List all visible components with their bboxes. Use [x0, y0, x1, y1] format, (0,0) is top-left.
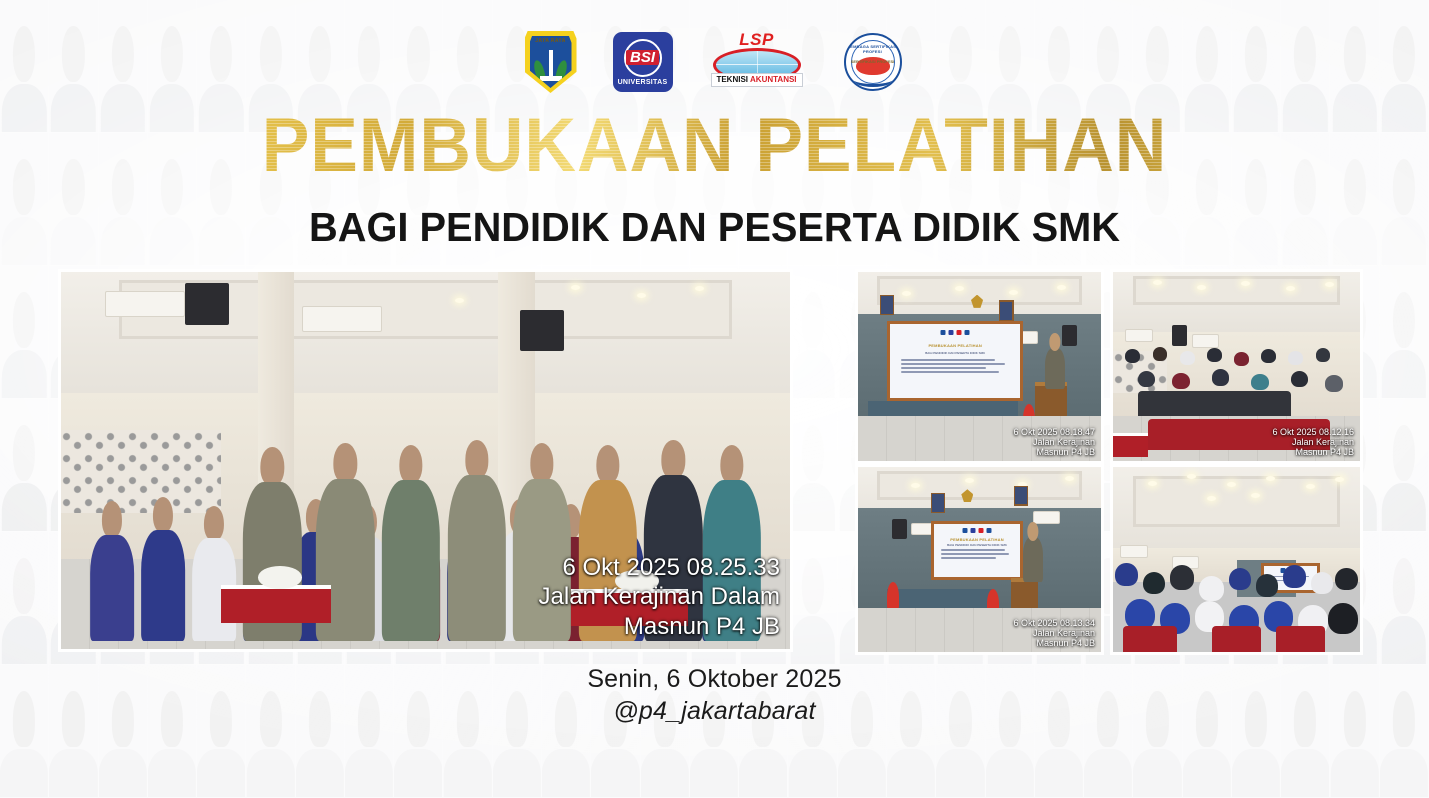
- president-portrait-left: [880, 295, 895, 316]
- flyer-page: JAYA RAYA BSI UNIVERSITAS LSP TEKNISI AK…: [0, 0, 1429, 760]
- audience-seating-photo: 6 Okt 2025 08.12.16 Jalan Kerajinan Masn…: [1110, 269, 1363, 464]
- flower-arrangement-left: [258, 566, 302, 589]
- projector-screen-frame: PEMBUKAAN PELATIHAN BAGI PENDIDIK DAN PE…: [931, 521, 1023, 580]
- stamp-datetime: 6 Okt 2025 08.25.33: [539, 553, 780, 582]
- slide-logos: [941, 330, 970, 335]
- seat-row-2: [1212, 626, 1261, 652]
- group-photo-participants: 6 Okt 2025 08.25.33 Jalan Kerajinan Dala…: [58, 269, 793, 652]
- seat-row-mid: [1138, 391, 1291, 416]
- photo-timestamp-overlay: 6 Okt 2025 08.12.16 Jalan Kerajinan Masn…: [1272, 427, 1354, 457]
- draped-table-left: [221, 585, 330, 623]
- slide-subtitle: BAGI PENDIDIK DAN PESERTA DIDIK SMK: [890, 351, 1020, 355]
- event-date-text: Senin, 6 Oktober 2025: [0, 664, 1429, 695]
- stamp-author: Masnun P4 JB: [539, 612, 780, 641]
- photo-timestamp-overlay: 6 Okt 2025 08.13.34 Jalan Kerajinan Masn…: [1013, 618, 1095, 648]
- hall-ceiling: [1113, 467, 1360, 552]
- seat-row-1: [1123, 626, 1177, 652]
- ceiling-recess: [1133, 276, 1340, 306]
- ceiling-speaker-1: [185, 283, 229, 324]
- ceiling-speaker-2: [520, 310, 564, 351]
- air-conditioner-2: [1033, 511, 1060, 524]
- wall-speaker: [1062, 325, 1077, 346]
- slide-logos: [963, 528, 992, 533]
- stamp-datetime: 6 Okt 2025 08.13.34: [1013, 618, 1095, 628]
- stamp-location: Jalan Kerajinan: [1013, 437, 1095, 447]
- slide-body-lines: [941, 549, 1014, 561]
- speaker-at-podium: [1023, 537, 1042, 581]
- draped-table: [1113, 433, 1148, 458]
- stage-screen-photo: PEMBUKAAN PELATIHAN BAGI PENDIDIK DAN PE…: [855, 269, 1104, 464]
- stamp-location: Jalan Kerajinan: [1013, 628, 1095, 638]
- audience-back-view-photo: [1110, 464, 1363, 655]
- stamp-author: Masnun P4 JB: [1013, 447, 1095, 457]
- president-portrait-right: [1014, 486, 1029, 506]
- social-handle-text: @p4_jakartabarat: [0, 695, 1429, 728]
- stamp-author: Masnun P4 JB: [1272, 447, 1354, 457]
- seat-row-3: [1276, 626, 1325, 652]
- slide-body-lines: [901, 359, 1010, 375]
- stamp-author: Masnun P4 JB: [1013, 638, 1095, 648]
- stamp-datetime: 6 Okt 2025 08.12.16: [1272, 427, 1354, 437]
- wall-speaker: [892, 519, 907, 539]
- photo-collage: 6 Okt 2025 08.25.33 Jalan Kerajinan Dala…: [0, 0, 1429, 760]
- slide-title: PEMBUKAAN PELATIHAN: [934, 537, 1020, 542]
- stamp-location: Jalan Kerajinan Dalam: [539, 582, 780, 611]
- photo-timestamp-overlay: 6 Okt 2025 08.25.33 Jalan Kerajinan Dala…: [539, 553, 780, 641]
- president-portrait-left: [931, 493, 946, 513]
- photo-scene: [1113, 467, 1360, 652]
- speaker-at-podium: [1045, 348, 1064, 390]
- projected-slide: PEMBUKAAN PELATIHAN BAGI PENDIDIK DAN PE…: [890, 324, 1020, 397]
- slide-subtitle: BAGI PENDIDIK DAN PESERTA DIDIK SMK: [934, 543, 1020, 547]
- air-conditioner-1: [105, 291, 185, 317]
- stamp-datetime: 6 Okt 2025 08.18.47: [1013, 427, 1095, 437]
- photo-timestamp-overlay: 6 Okt 2025 08.18.47 Jalan Kerajinan Masn…: [1013, 427, 1095, 457]
- projected-slide: PEMBUKAAN PELATIHAN BAGI PENDIDIK DAN PE…: [934, 524, 1020, 577]
- slide-title: PEMBUKAAN PELATIHAN: [890, 343, 1020, 348]
- air-conditioner-2: [302, 306, 382, 332]
- projector-screen-frame: PEMBUKAAN PELATIHAN BAGI PENDIDIK DAN PE…: [887, 321, 1023, 400]
- president-portrait-right: [999, 300, 1014, 321]
- ceiling-recess: [877, 471, 1081, 500]
- footer: Senin, 6 Oktober 2025 @p4_jakartabarat: [0, 664, 1429, 728]
- stamp-location: Jalan Kerajinan: [1272, 437, 1354, 447]
- podium-speaker-photo: PEMBUKAAN PELATIHAN BAGI PENDIDIK DAN PE…: [855, 464, 1104, 655]
- hall-ceiling: [1113, 272, 1360, 336]
